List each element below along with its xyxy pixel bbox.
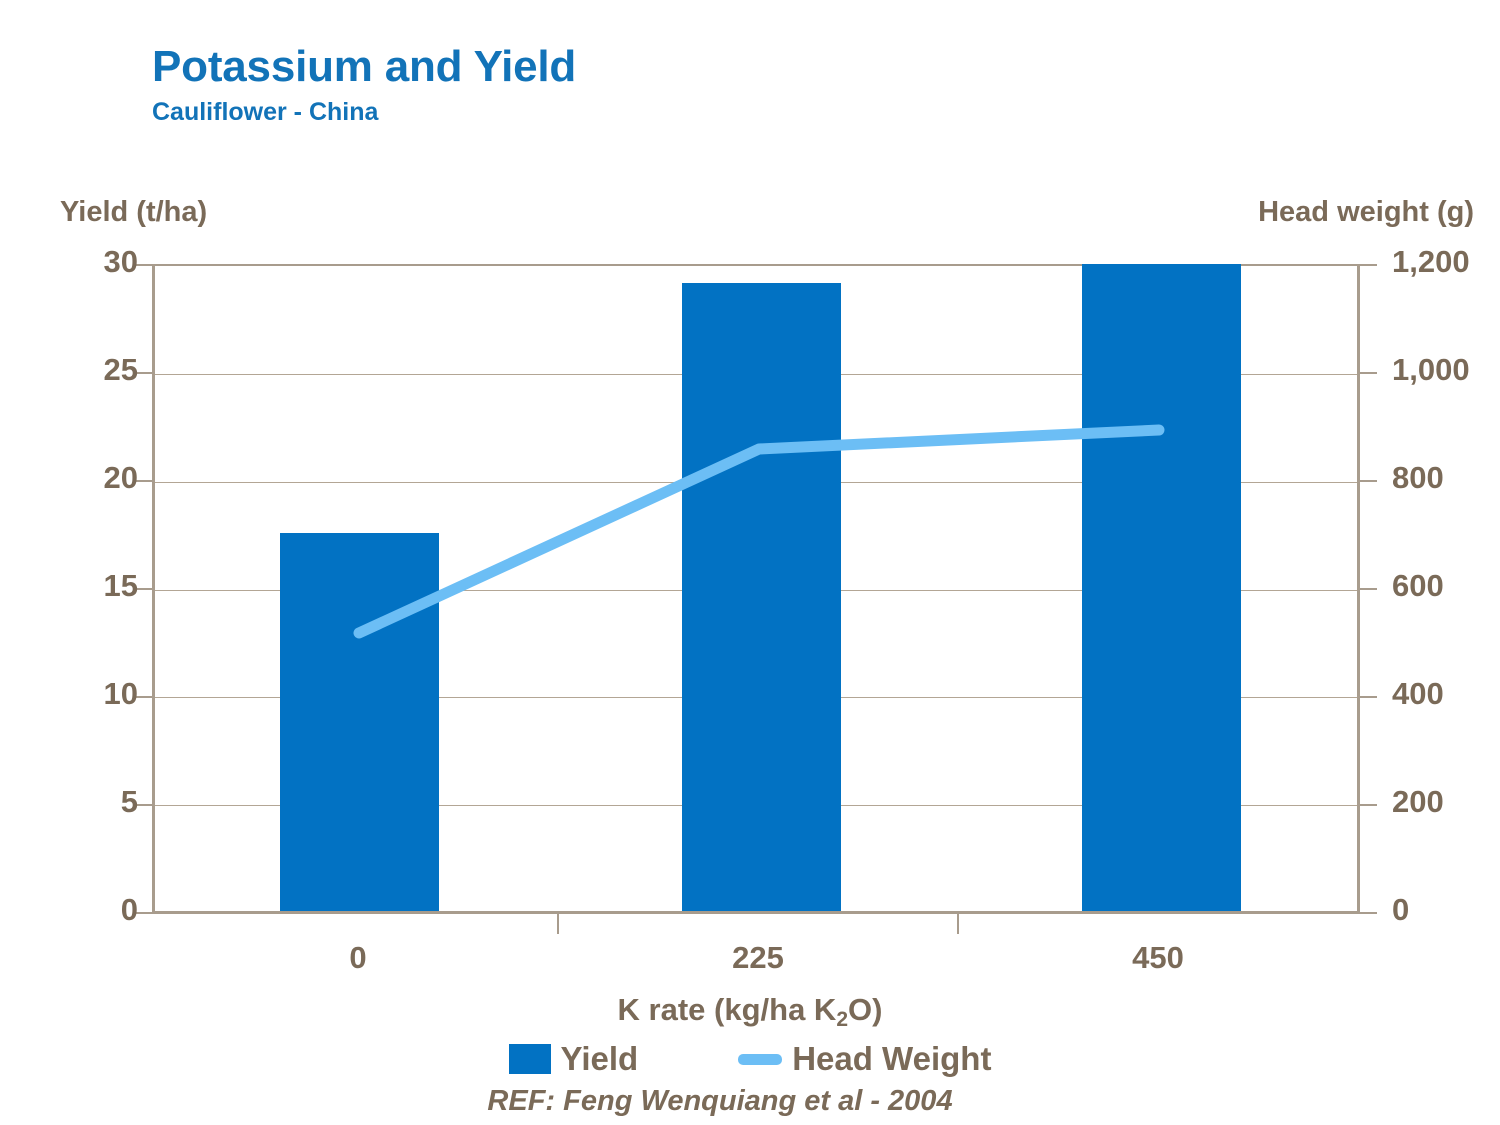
y-tick-right-1000: 1,000: [1392, 352, 1470, 388]
page-subtitle: Cauliflower - China: [152, 98, 576, 127]
x-axis-title-post: O): [848, 992, 882, 1027]
tickmark-right-200: [1360, 804, 1377, 806]
tickmark-right-400: [1360, 696, 1377, 698]
x-tick-450: 450: [1132, 940, 1184, 976]
plot-area: [152, 264, 1360, 914]
y-tick-right-400: 400: [1392, 676, 1444, 712]
legend-label-yield: Yield: [561, 1040, 639, 1078]
line-series-head-weight: [155, 266, 1363, 916]
y-axis-right-title: Head weight (g): [1258, 196, 1474, 229]
x-axis-title: K rate (kg/ha K2O): [0, 992, 1500, 1028]
y-tick-left-30: 30: [104, 244, 138, 280]
x-axis-title-pre: K rate (kg/ha K: [618, 992, 837, 1027]
tickmark-right-1200: [1360, 264, 1377, 266]
x-tickmark-1: [557, 914, 559, 934]
x-tick-225: 225: [732, 940, 784, 976]
y-tick-right-800: 800: [1392, 460, 1444, 496]
line-swatch-icon: [738, 1054, 782, 1065]
legend-item-yield[interactable]: Yield: [509, 1040, 639, 1078]
legend-label-head-weight: Head Weight: [792, 1040, 991, 1078]
y-tick-left-10: 10: [104, 676, 138, 712]
tickmark-right-1000: [1360, 372, 1377, 374]
y-tick-right-200: 200: [1392, 784, 1444, 820]
legend-item-head-weight[interactable]: Head Weight: [738, 1040, 991, 1078]
page-title: Potassium and Yield: [152, 44, 576, 90]
tickmark-right-0: [1360, 912, 1377, 914]
tickmark-right-600: [1360, 588, 1377, 590]
x-tickmark-2: [957, 914, 959, 934]
y-tick-left-20: 20: [104, 460, 138, 496]
x-tick-0: 0: [349, 940, 366, 976]
y-tick-left-0: 0: [121, 892, 138, 928]
x-axis-title-subscript: 2: [836, 1008, 848, 1031]
y-tick-left-5: 5: [121, 784, 138, 820]
head-weight-polyline: [359, 430, 1159, 633]
y-tick-right-600: 600: [1392, 568, 1444, 604]
title-block: Potassium and Yield Cauliflower - China: [152, 44, 576, 127]
bar-swatch-icon: [509, 1044, 551, 1074]
y-tick-left-15: 15: [104, 568, 138, 604]
y-axis-left-title: Yield (t/ha): [60, 196, 207, 229]
reference-note: REF: Feng Wenquiang et al - 2004: [0, 1085, 1500, 1118]
y-tick-left-25: 25: [104, 352, 138, 388]
tickmark-right-800: [1360, 480, 1377, 482]
y-tick-right-1200: 1,200: [1392, 244, 1470, 280]
legend: Yield Head Weight: [0, 1040, 1500, 1078]
y-tick-right-0: 0: [1392, 892, 1409, 928]
